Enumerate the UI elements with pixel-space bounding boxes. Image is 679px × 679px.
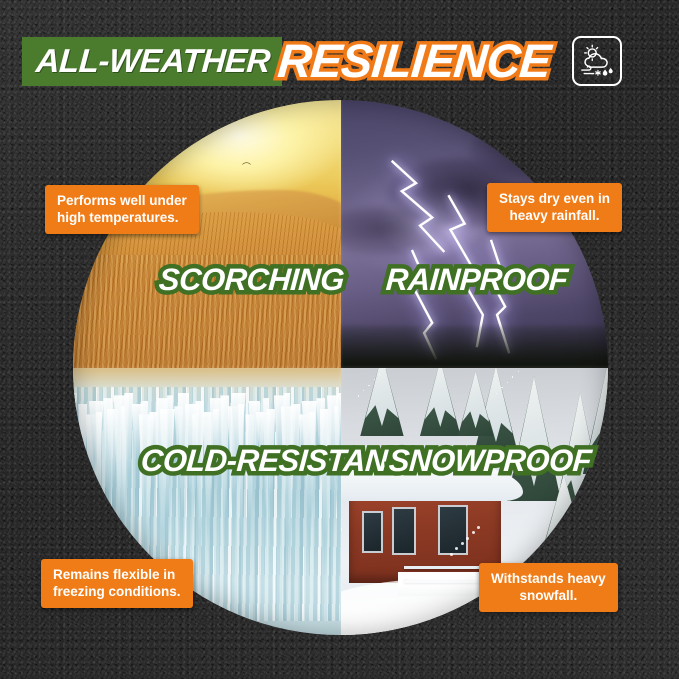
- thunderstorm-scene-image: [341, 100, 609, 368]
- snowflake: [363, 390, 364, 391]
- cabin-window: [392, 507, 416, 555]
- mixed-weather-icon: [572, 36, 622, 86]
- snowflake: [368, 385, 369, 386]
- weather-resilience-infographic: ALL-WEATHER RESILIENCE: [0, 0, 679, 679]
- snowflake: [507, 382, 508, 383]
- snowflake: [496, 393, 497, 394]
- header-banner: ALL-WEATHER RESILIENCE: [22, 33, 622, 89]
- callout-high-temperatures: Performs well under high temperatures.: [45, 185, 199, 234]
- snowflake: [466, 537, 469, 540]
- label-snowproof: SNOWPROOF: [388, 443, 593, 479]
- snowflake: [605, 534, 608, 537]
- snowflake: [358, 395, 359, 396]
- storm-treeline: [341, 326, 609, 367]
- weather-collage-circle: ︵: [73, 100, 608, 635]
- snowflake: [594, 545, 597, 548]
- bird-silhouette-icon: ︵: [242, 158, 254, 164]
- title-green-band: ALL-WEATHER: [22, 37, 282, 86]
- title-all-weather: ALL-WEATHER: [35, 42, 272, 80]
- snowflake: [512, 376, 513, 377]
- snowflake: [450, 553, 453, 556]
- title-resilience: RESILIENCE: [276, 36, 552, 86]
- quadrant-rainproof: [341, 100, 609, 368]
- callout-heavy-rainfall: Stays dry even in heavy rainfall.: [487, 183, 622, 232]
- lightning-bolt-icon: [391, 161, 444, 252]
- label-cold-resistant: COLD-RESISTANT: [140, 443, 407, 479]
- label-rainproof: RAINPROOF: [385, 262, 569, 298]
- callout-freezing-conditions: Remains flexible in freezing conditions.: [41, 559, 193, 608]
- cabin-window: [438, 505, 468, 555]
- snowflake: [341, 528, 342, 531]
- label-scorching: SCORCHING: [158, 262, 345, 298]
- cabin-window: [362, 511, 383, 553]
- callout-heavy-snowfall: Withstands heavy snowfall.: [479, 563, 618, 612]
- snowflake: [477, 526, 480, 529]
- snowflake: [518, 371, 519, 372]
- snowflake: [472, 531, 475, 534]
- snowflake: [461, 542, 464, 545]
- snowflake: [374, 379, 375, 380]
